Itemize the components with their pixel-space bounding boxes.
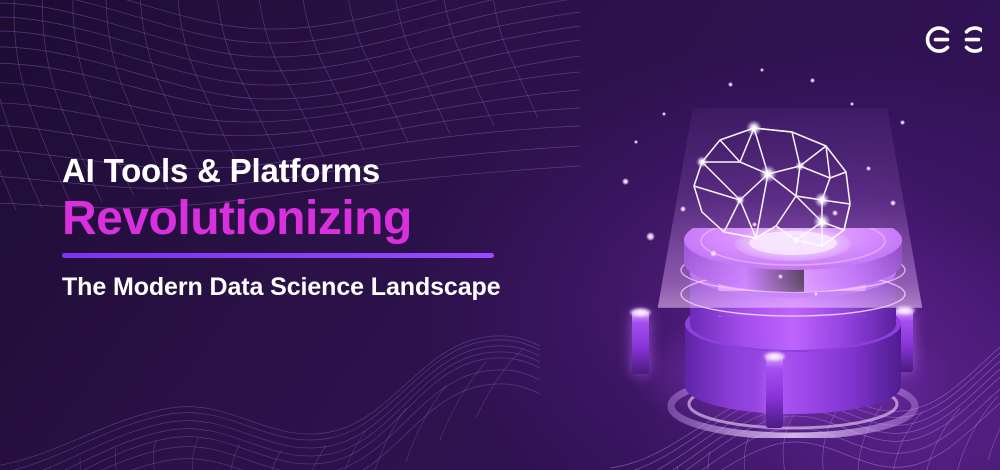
banner: AI Tools & Platforms Revolutionizing The…: [0, 0, 1000, 470]
sparkle: [622, 178, 629, 185]
low-poly-brain-hologram: [658, 100, 888, 285]
pillar-center: [766, 356, 783, 428]
geeksforgeeks-logo[interactable]: [920, 16, 982, 62]
headline-subtitle: The Modern Data Science Landscape: [62, 271, 532, 303]
sparkle: [760, 68, 764, 72]
headline-line-2: Revolutionizing: [62, 190, 532, 248]
wireframe-mesh-bottom-left: [0, 310, 540, 470]
sparkle: [810, 78, 815, 83]
pillar-left: [632, 312, 649, 374]
sparkle: [634, 140, 638, 144]
sparkle: [728, 82, 733, 87]
headline-divider: [62, 253, 494, 258]
sparkle: [900, 120, 905, 125]
headline-block: AI Tools & Platforms Revolutionizing The…: [62, 150, 532, 303]
headline-line-1: AI Tools & Platforms: [62, 150, 532, 192]
hero-illustration: [600, 60, 980, 430]
